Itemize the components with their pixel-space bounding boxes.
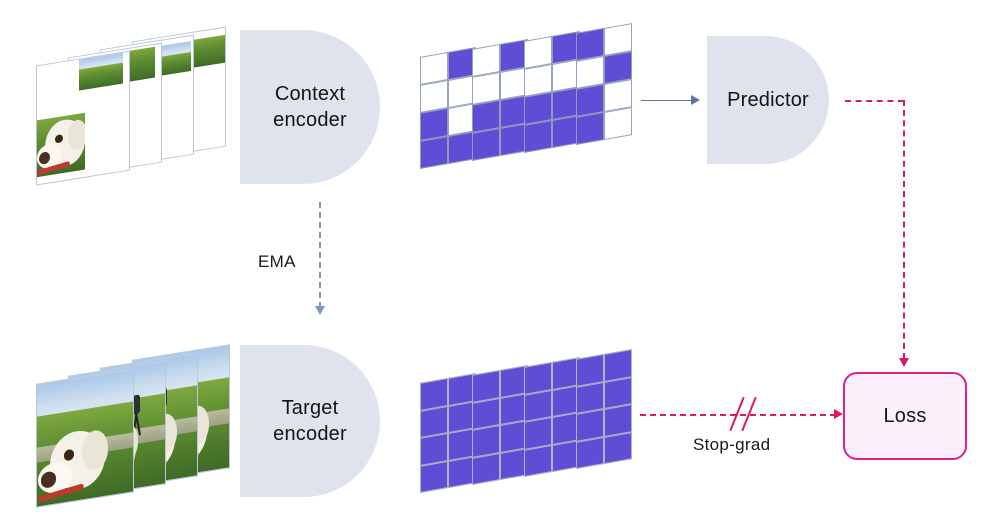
- ema-arrow-line: [319, 202, 321, 308]
- context-token-sheet-1: [420, 47, 476, 169]
- stopgrad-arrow-head: [834, 409, 843, 419]
- token-cell: [576, 437, 604, 469]
- target-encoder-block[interactable]: Target encoder: [240, 345, 380, 497]
- token-cell: [524, 445, 552, 477]
- diagram-canvas: Context encoder: [0, 0, 1000, 531]
- target-encoder-label-line2: encoder: [273, 421, 347, 447]
- token-cell: [576, 112, 604, 145]
- dog-fragment: [37, 115, 85, 178]
- target-token-sheet-3: [524, 357, 580, 477]
- photo: [37, 369, 133, 506]
- context-encoder-label-line1: Context: [273, 81, 347, 107]
- stopgrad-arrow-line: [640, 414, 836, 416]
- token-cell: [524, 120, 552, 153]
- target-token-sheet-4: [576, 349, 632, 469]
- token-cell: [604, 107, 632, 140]
- target-token-sheet-1: [420, 373, 476, 493]
- target-token-sheet-2: [472, 365, 528, 485]
- ema-label: EMA: [258, 252, 296, 272]
- arrow-context-to-predictor-line: [641, 100, 693, 101]
- token-cell: [472, 128, 500, 161]
- context-encoder-block[interactable]: Context encoder: [240, 30, 380, 184]
- token-cell: [420, 136, 448, 169]
- context-token-sheet-2: [472, 39, 528, 161]
- loss-block[interactable]: Loss: [843, 372, 967, 460]
- visible-patch: [37, 113, 85, 177]
- arrow-context-to-predictor-head: [691, 95, 700, 105]
- token-cell: [472, 453, 500, 485]
- dog: [36, 424, 110, 504]
- loss-label: Loss: [883, 405, 926, 428]
- photo-fragment: [37, 113, 85, 177]
- target-frame-1: [36, 368, 134, 508]
- context-encoder-label-line2: encoder: [273, 107, 347, 133]
- token-cell: [604, 432, 632, 464]
- ema-arrow-head: [315, 306, 325, 315]
- context-token-sheet-3: [524, 31, 580, 153]
- predictor-block[interactable]: Predictor: [707, 36, 829, 164]
- predictor-label: Predictor: [727, 87, 809, 113]
- token-cell: [420, 461, 448, 493]
- stopgrad-label: Stop-grad: [693, 435, 770, 455]
- target-encoder-label-line1: Target: [273, 395, 347, 421]
- context-frame-1: [36, 51, 130, 186]
- predictor-to-loss-horizontal: [845, 100, 904, 102]
- predictor-to-loss-vertical: [903, 100, 905, 359]
- context-token-sheet-4: [576, 23, 632, 145]
- predictor-to-loss-arrow-head: [899, 358, 909, 367]
